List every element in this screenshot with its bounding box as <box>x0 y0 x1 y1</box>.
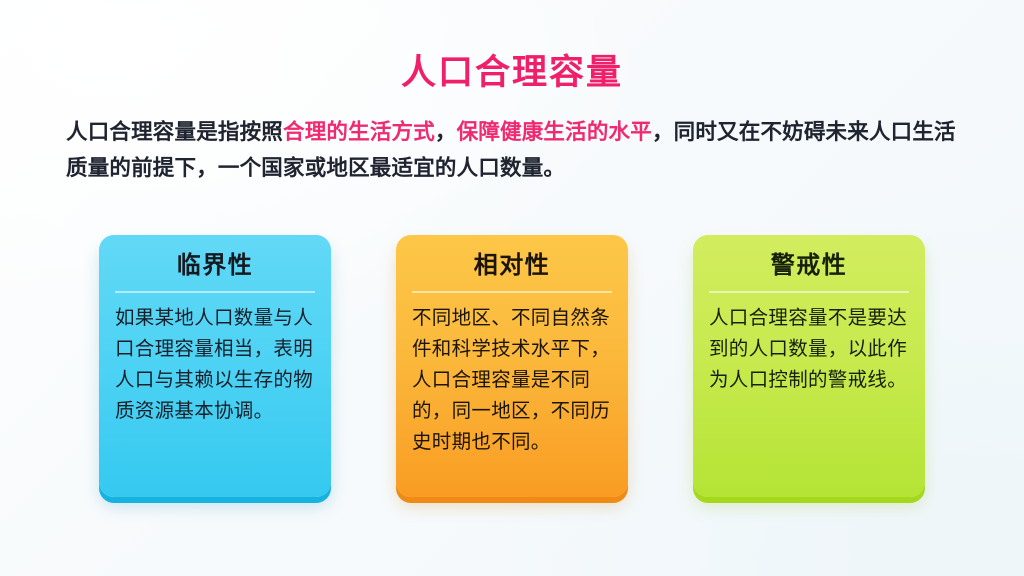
intro-highlight-2: 保障健康生活的水平 <box>457 120 652 144</box>
feature-card-title: 相对性 <box>410 251 614 291</box>
intro-paragraph: 人口合理容量是指按照合理的生活方式，保障健康生活的水平，同时又在不妨碍未来人口生… <box>66 114 966 186</box>
feature-card-body: 如果某地人口数量与人口合理容量相当，表明人口与其赖以生存的物质资源基本协调。 <box>113 303 317 427</box>
feature-card-body: 人口合理容量不是要达到的人口数量，以此作为人口控制的警戒线。 <box>707 303 911 396</box>
intro-segment-2: ， <box>435 120 457 144</box>
feature-card-warning[interactable]: 警戒性 人口合理容量不是要达到的人口数量，以此作为人口控制的警戒线。 <box>693 235 925 497</box>
feature-card-relative[interactable]: 相对性 不同地区、不同自然条件和科学技术水平下，人口合理容量是不同的，同一地区，… <box>396 235 628 497</box>
feature-card-title: 警戒性 <box>707 251 911 291</box>
intro-segment-1: 人口合理容量是指按照 <box>66 120 283 144</box>
feature-card-title: 临界性 <box>113 251 317 291</box>
slide-canvas: 人口合理容量 人口合理容量是指按照合理的生活方式，保障健康生活的水平，同时又在不… <box>0 0 1024 576</box>
feature-card-critical[interactable]: 临界性 如果某地人口数量与人口合理容量相当，表明人口与其赖以生存的物质资源基本协… <box>99 235 331 497</box>
page-title: 人口合理容量 <box>0 44 1024 95</box>
feature-cards-row: 临界性 如果某地人口数量与人口合理容量相当，表明人口与其赖以生存的物质资源基本协… <box>0 235 1024 503</box>
intro-highlight-1: 合理的生活方式 <box>283 120 435 144</box>
feature-card-body: 不同地区、不同自然条件和科学技术水平下，人口合理容量是不同的，同一地区，不同历史… <box>410 303 614 458</box>
